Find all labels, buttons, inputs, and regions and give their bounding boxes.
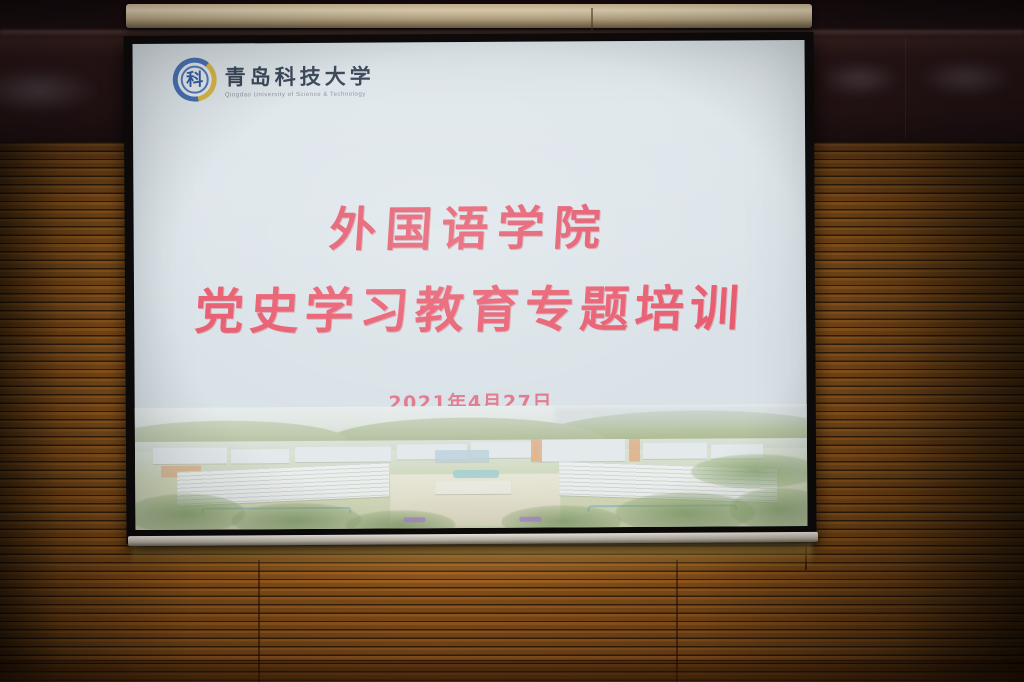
plaza-pavilion: [435, 481, 511, 494]
campus-trees: [135, 493, 246, 530]
university-name-cn: 青岛科技大学: [225, 60, 375, 91]
wall-panel-seam: [905, 38, 906, 138]
campus-building: [643, 443, 707, 459]
emblem-glyph: 科: [186, 72, 203, 89]
university-name-en: Qingdao University of Science & Technolo…: [225, 91, 375, 98]
campus-building: [295, 446, 391, 462]
campus-building: [539, 439, 625, 462]
wall-light-reflection: [920, 60, 1012, 96]
wall-light-reflection: [820, 62, 900, 96]
campus-building: [435, 450, 489, 462]
campus-building: [153, 447, 227, 463]
wall-light-reflection: [0, 68, 98, 112]
slide-title-line-2: 党史学习教育专题培训: [133, 269, 808, 344]
roller-seam: [591, 8, 593, 30]
projection-screen[interactable]: 科 青岛科技大学 Qingdao University of Science &…: [123, 32, 816, 544]
plaza-vehicle: [403, 517, 425, 522]
screen-roller-housing[interactable]: [126, 4, 812, 28]
presentation-slide: 科 青岛科技大学 Qingdao University of Science &…: [133, 40, 808, 530]
distant-ridge: [555, 406, 808, 428]
campus-building-accent: [531, 440, 542, 462]
plaza-water-feature: [453, 470, 499, 478]
wall-base-trim: [0, 660, 1024, 682]
university-emblem-icon: 科: [173, 58, 217, 102]
slide-title-block: 外国语学院 党史学习教育专题培训: [133, 188, 806, 344]
conference-room-scene: 科 青岛科技大学 Qingdao University of Science &…: [0, 0, 1024, 682]
campus-photo: [135, 404, 808, 530]
campus-building-accent: [629, 439, 640, 461]
slide-title-line-1: 外国语学院: [133, 188, 808, 261]
university-logo: 科 青岛科技大学 Qingdao University of Science &…: [173, 57, 375, 102]
plaza-vehicle: [519, 517, 541, 522]
campus-building: [231, 449, 289, 463]
